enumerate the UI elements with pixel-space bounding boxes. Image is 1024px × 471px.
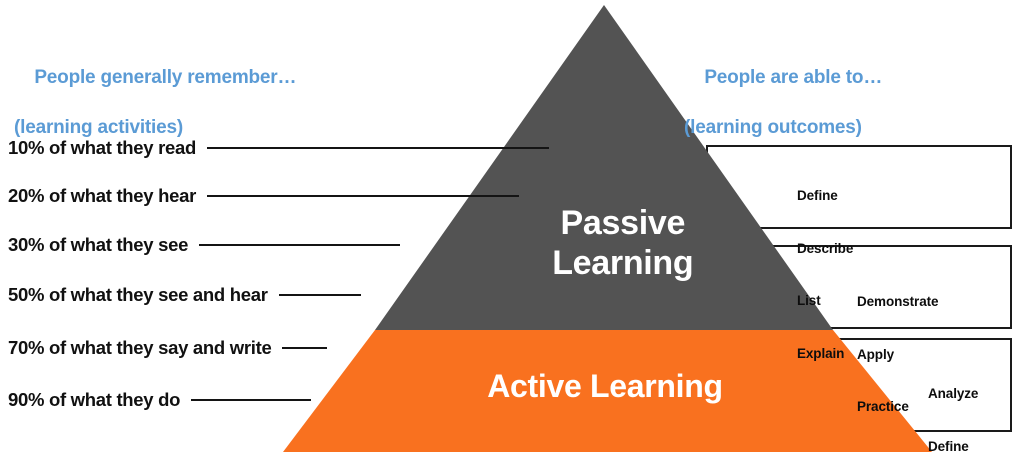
outcome-item-explain: Explain xyxy=(797,345,853,363)
activity-row: 10% of what they read xyxy=(8,137,549,159)
leader-line-see xyxy=(199,244,400,246)
pyramid-passive-label-line1: Passive xyxy=(561,204,686,242)
activity-row: 70% of what they say and write xyxy=(8,337,327,359)
leader-line-hear xyxy=(207,195,519,197)
outcome-item-define-active: Define xyxy=(928,438,983,456)
activity-label-read: 10% of what they read xyxy=(8,137,196,159)
leader-line-say-and-write xyxy=(282,347,327,349)
activity-label-see: 30% of what they see xyxy=(8,234,188,256)
activity-row: 30% of what they see xyxy=(8,234,400,256)
pyramid-active-label: Active Learning xyxy=(415,368,795,406)
leader-line-do xyxy=(191,399,311,401)
activity-label-see-and-hear: 50% of what they see and hear xyxy=(8,284,268,306)
right-column-header-line2: (learning outcomes) xyxy=(684,115,882,140)
outcome-item-list: List xyxy=(797,292,853,310)
outcome-item-define: Define xyxy=(797,187,853,205)
left-column-header: People generally remember… (learning act… xyxy=(14,40,296,190)
leader-line-see-and-hear xyxy=(279,294,361,296)
outcome-item-practice: Practice xyxy=(857,398,938,416)
learning-pyramid-diagram: Passive Learning Active Learning People … xyxy=(0,0,1024,471)
leader-line-read xyxy=(207,147,549,149)
activity-row: 20% of what they hear xyxy=(8,185,519,207)
activity-label-hear: 20% of what they hear xyxy=(8,185,196,207)
activity-row: 50% of what they see and hear xyxy=(8,284,361,306)
outcome-item-demonstrate: Demonstrate xyxy=(857,293,938,311)
right-column-header-line1: People are able to… xyxy=(704,67,882,88)
activity-row: 90% of what they do xyxy=(8,389,311,411)
outcome-item-apply: Apply xyxy=(857,346,938,364)
outcome-item-analyze: Analyze xyxy=(928,385,983,403)
left-column-header-line1: People generally remember… xyxy=(34,67,296,88)
activity-label-do: 90% of what they do xyxy=(8,389,180,411)
activity-label-say-and-write: 70% of what they say and write xyxy=(8,337,271,359)
outcome-list-passive-upper: Define Describe List Explain xyxy=(797,152,853,397)
outcome-list-active: Analyze Define Create Evaluate xyxy=(928,350,983,471)
outcome-item-describe: Describe xyxy=(797,240,853,258)
outcome-list-passive-lower: Demonstrate Apply Practice xyxy=(857,258,938,451)
pyramid-passive-label-line2: Learning xyxy=(552,244,693,282)
